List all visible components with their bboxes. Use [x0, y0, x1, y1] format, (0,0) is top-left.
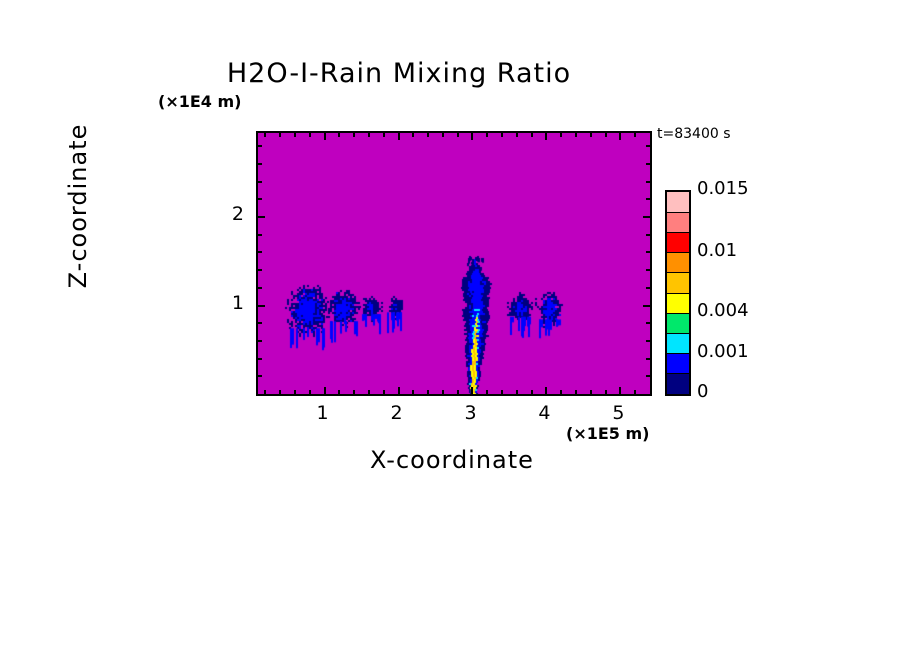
- colorbar-tick-label: 0.01: [697, 240, 737, 261]
- colorbar-band-yellow: [667, 293, 689, 314]
- y-major-tick-right: [643, 216, 650, 218]
- colorbar-band-navy: [667, 374, 689, 395]
- y-axis-title: Z-coordinate: [64, 71, 92, 341]
- y-minor-tick: [258, 181, 262, 183]
- x-minor-tick: [442, 390, 444, 394]
- x-minor-tick: [309, 390, 311, 394]
- colorbar-tick-label: 0: [697, 381, 708, 402]
- x-tick-label: 1: [303, 402, 343, 424]
- x-major-tick: [545, 387, 547, 394]
- x-major-tick: [398, 387, 400, 394]
- colorbar-band-blue: [667, 354, 689, 375]
- x-minor-tick: [486, 390, 488, 394]
- x-minor-tick-top: [486, 133, 488, 137]
- x-minor-tick-top: [368, 133, 370, 137]
- x-major-tick: [619, 387, 621, 394]
- x-tick-label: 3: [450, 402, 490, 424]
- colorbar-separator: [667, 212, 689, 213]
- y-minor-tick: [258, 375, 262, 377]
- x-major-tick-top: [324, 133, 326, 140]
- y-minor-tick: [258, 163, 262, 165]
- x-minor-tick: [368, 390, 370, 394]
- x-minor-tick-top: [279, 133, 281, 137]
- x-minor-tick: [353, 390, 355, 394]
- y-minor-tick: [258, 198, 262, 200]
- colorbar-separator: [667, 333, 689, 334]
- x-minor-tick: [501, 390, 503, 394]
- y-major-tick-right: [643, 305, 650, 307]
- x-major-tick-top: [619, 133, 621, 140]
- x-minor-tick-top: [575, 133, 577, 137]
- x-minor-tick: [279, 390, 281, 394]
- y-minor-tick: [258, 251, 262, 253]
- colorbar-tick-label: 0.015: [697, 178, 749, 199]
- colorbar-band-green: [667, 313, 689, 334]
- x-minor-tick-top: [516, 133, 518, 137]
- x-major-tick-top: [545, 133, 547, 140]
- y-minor-tick: [258, 234, 262, 236]
- x-minor-tick: [264, 390, 266, 394]
- colorbar-band-pink: [667, 192, 689, 213]
- x-minor-tick: [516, 390, 518, 394]
- y-minor-tick: [258, 287, 262, 289]
- x-axis-title: X-coordinate: [256, 446, 648, 474]
- x-minor-tick: [457, 390, 459, 394]
- x-minor-tick-top: [309, 133, 311, 137]
- x-minor-tick: [412, 390, 414, 394]
- y-tick-label: 2: [204, 203, 244, 225]
- y-minor-tick-right: [646, 375, 650, 377]
- x-minor-tick-top: [353, 133, 355, 137]
- colorbar: [665, 190, 691, 396]
- plot-area: [256, 131, 652, 396]
- y-minor-tick-right: [646, 287, 650, 289]
- y-minor-tick-right: [646, 358, 650, 360]
- colorbar-tick-label: 0.001: [697, 341, 749, 362]
- colorbar-band-salmon: [667, 212, 689, 233]
- colorbar-tick-label: 0.004: [697, 300, 749, 321]
- x-minor-tick-top: [412, 133, 414, 137]
- colorbar-separator: [667, 293, 689, 294]
- colorbar-separator: [667, 353, 689, 354]
- x-minor-tick: [560, 390, 562, 394]
- x-minor-tick-top: [560, 133, 562, 137]
- x-minor-tick-top: [531, 133, 533, 137]
- x-minor-tick: [338, 390, 340, 394]
- x-minor-tick-top: [383, 133, 385, 137]
- x-major-tick: [324, 387, 326, 394]
- x-minor-tick: [294, 390, 296, 394]
- x-minor-tick-top: [457, 133, 459, 137]
- colorbar-separator: [667, 373, 689, 374]
- y-minor-tick-right: [646, 322, 650, 324]
- colorbar-band-cyan: [667, 333, 689, 354]
- y-minor-tick: [258, 340, 262, 342]
- x-minor-tick: [427, 390, 429, 394]
- y-tick-label: 1: [204, 292, 244, 314]
- x-minor-tick-top: [264, 133, 266, 137]
- y-axis-unit-label: (×1E4 m): [158, 92, 241, 111]
- y-minor-tick-right: [646, 234, 650, 236]
- x-minor-tick-top: [590, 133, 592, 137]
- y-minor-tick: [258, 358, 262, 360]
- x-tick-label: 4: [524, 402, 564, 424]
- x-minor-tick: [575, 390, 577, 394]
- y-minor-tick-right: [646, 198, 650, 200]
- x-axis-unit-label: (×1E5 m): [566, 424, 649, 443]
- x-minor-tick-top: [605, 133, 607, 137]
- x-major-tick-top: [398, 133, 400, 140]
- y-major-tick: [258, 216, 265, 218]
- colorbar-band-amber: [667, 273, 689, 294]
- colorbar-band-orange: [667, 253, 689, 274]
- x-minor-tick: [383, 390, 385, 394]
- x-minor-tick-top: [634, 133, 636, 137]
- rain-mixing-ratio-field: [258, 133, 650, 394]
- x-minor-tick-top: [442, 133, 444, 137]
- x-major-tick: [471, 387, 473, 394]
- figure-container: H2O-I-Rain Mixing Ratio (×1E4 m) t=83400…: [0, 0, 904, 654]
- x-minor-tick: [590, 390, 592, 394]
- x-minor-tick-top: [338, 133, 340, 137]
- x-minor-tick-top: [501, 133, 503, 137]
- colorbar-band-red: [667, 232, 689, 253]
- colorbar-separator: [667, 252, 689, 253]
- y-minor-tick: [258, 145, 262, 147]
- y-minor-tick-right: [646, 145, 650, 147]
- y-minor-tick-right: [646, 251, 650, 253]
- y-minor-tick: [258, 322, 262, 324]
- x-minor-tick: [531, 390, 533, 394]
- x-tick-label: 2: [377, 402, 417, 424]
- colorbar-separator: [667, 272, 689, 273]
- colorbar-separator: [667, 232, 689, 233]
- x-minor-tick: [634, 390, 636, 394]
- y-minor-tick-right: [646, 340, 650, 342]
- y-major-tick: [258, 305, 265, 307]
- page-title: H2O-I-Rain Mixing Ratio: [0, 58, 851, 89]
- time-annotation: t=83400 s: [657, 126, 731, 142]
- x-tick-label: 5: [598, 402, 638, 424]
- x-minor-tick-top: [427, 133, 429, 137]
- y-minor-tick-right: [646, 181, 650, 183]
- y-minor-tick-right: [646, 163, 650, 165]
- y-minor-tick-right: [646, 269, 650, 271]
- x-major-tick-top: [471, 133, 473, 140]
- x-minor-tick-top: [294, 133, 296, 137]
- y-minor-tick: [258, 269, 262, 271]
- colorbar-separator: [667, 313, 689, 314]
- x-minor-tick: [605, 390, 607, 394]
